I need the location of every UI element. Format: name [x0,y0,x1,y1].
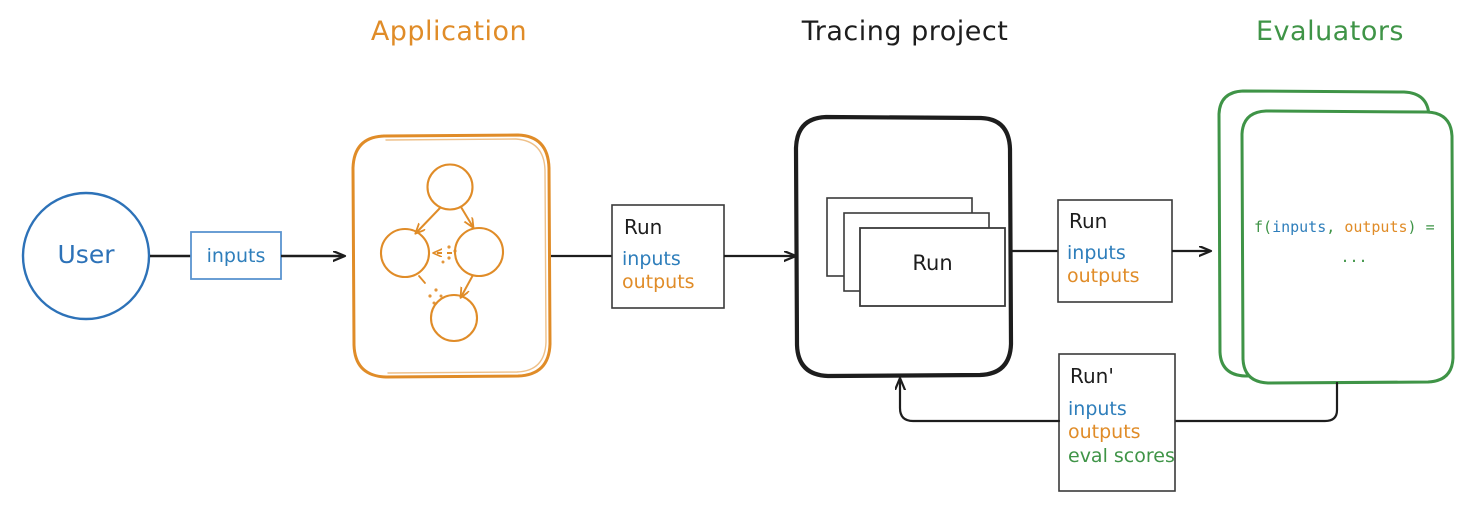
tracing-run-card-label: Run [860,251,1005,275]
graph-node-top [428,165,473,210]
run-prime-field-inputs: inputs [1068,398,1127,420]
evaluator-card-front [1242,111,1453,383]
run-prime-field-outputs: outputs [1068,421,1141,443]
run-box-1-field-outputs: outputs [622,271,695,293]
heading-evaluators: Evaluators [1220,16,1440,47]
heading-tracing-project: Tracing project [780,16,1030,47]
graph-node-bottom [431,295,477,341]
graph-node-right [455,228,503,276]
heading-application: Application [334,16,564,47]
run-box-1-field-inputs: inputs [622,248,681,270]
run-box-2-field-inputs: inputs [1067,242,1126,264]
graph-node-left [381,229,429,277]
evaluator-code-outputs: outputs [1344,218,1407,236]
run-box-2-title: Run [1069,209,1107,233]
evaluator-code-fn: f( [1254,218,1272,236]
run-prime-box-title: Run' [1070,364,1114,388]
connector-evaluators-to-runprime [1175,383,1337,421]
evaluators-stack [1219,91,1453,383]
inputs-box-label: inputs [191,245,281,267]
run-box-1-title: Run [624,215,662,239]
run-prime-field-eval-scores: eval scores [1068,445,1175,467]
evaluator-code-line-1: f(inputs, outputs) = [1254,218,1435,236]
evaluator-code-eq: ) = [1408,218,1435,236]
evaluator-code-inputs: inputs [1272,218,1326,236]
run-box-2-field-outputs: outputs [1067,265,1140,287]
connector-runprime-to-tracing [900,379,1059,421]
user-node-label: User [26,240,146,269]
evaluator-code-line-2: ... [1254,248,1454,266]
evaluator-code-comma: , [1326,218,1344,236]
diagram-canvas: Application Tracing project Evaluators U… [0,0,1474,521]
